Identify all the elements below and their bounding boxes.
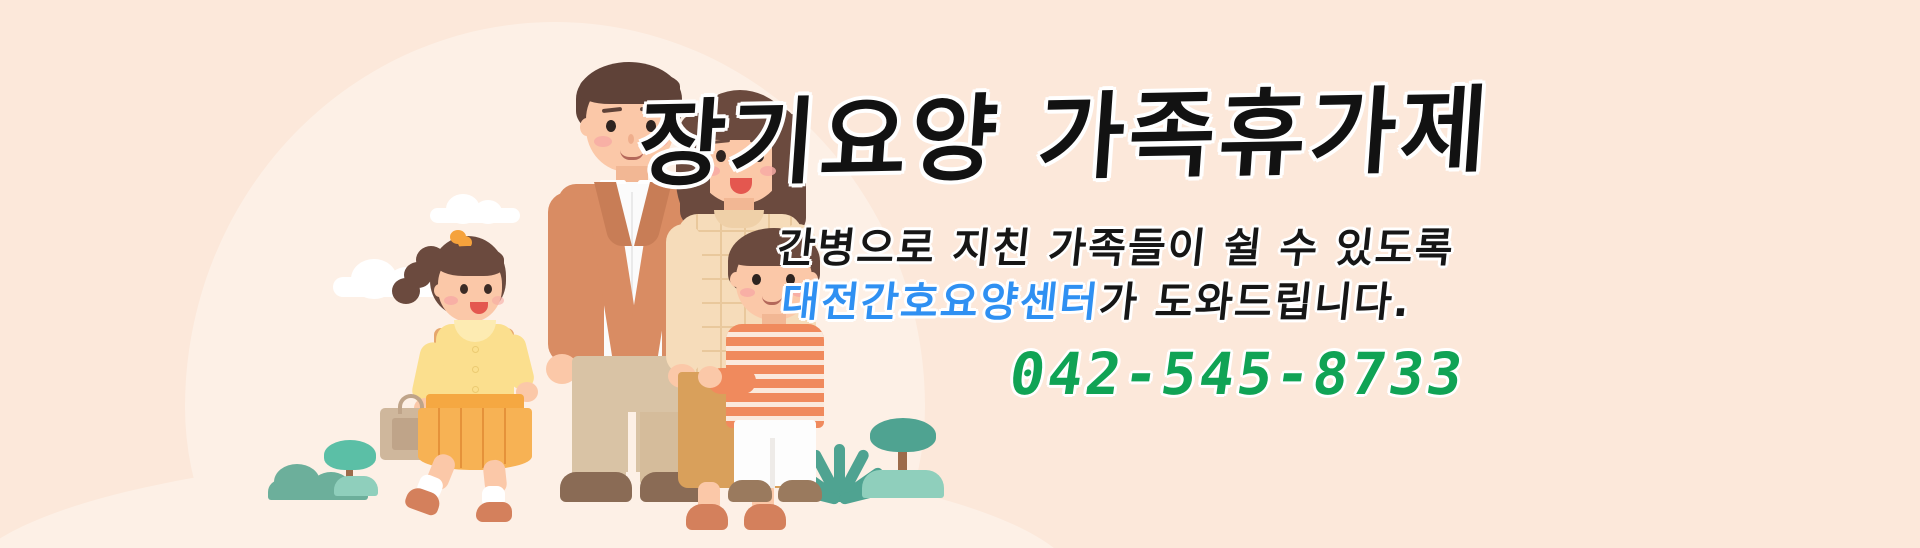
- subtitle-line-1: 간병으로 지친 가족들이 쉴 수 있도록: [775, 214, 1458, 274]
- promo-banner: 장기요양 가족휴가제 간병으로 지친 가족들이 쉴 수 있도록 대전간호요양센터…: [0, 0, 1920, 548]
- phone-number[interactable]: 042-545-8733: [1005, 340, 1470, 408]
- center-name-accent: 대전간호요양센터: [779, 278, 1102, 326]
- tree-small: [320, 440, 380, 498]
- cloud-small-icon: [430, 192, 520, 222]
- subtitle-line-2: 대전간호요양센터가 도와드립니다.: [779, 268, 1415, 328]
- page-title: 장기요양 가족휴가제: [635, 55, 1497, 206]
- text-block: 장기요양 가족휴가제 간병으로 지친 가족들이 쉴 수 있도록 대전간호요양센터…: [640, 52, 1600, 472]
- subtitle-line-2-rest: 가 도와드립니다.: [1097, 278, 1414, 326]
